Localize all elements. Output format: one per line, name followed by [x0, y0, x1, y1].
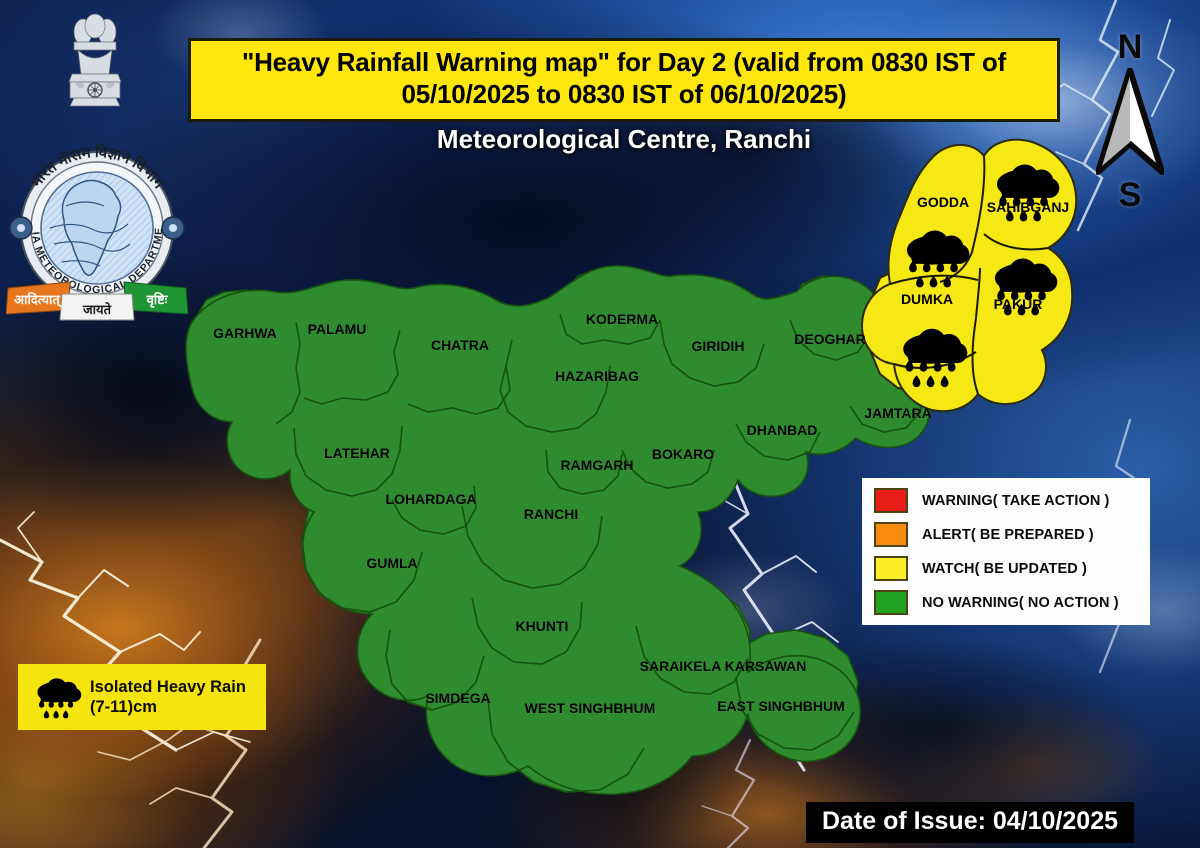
district-label-palamu: PALAMU [308, 321, 367, 337]
district-label-koderma: KODERMA [586, 311, 658, 327]
district-label-simdega: SIMDEGA [425, 690, 490, 706]
district-label-lohardaga: LOHARDAGA [386, 491, 477, 507]
district-label-bokaro: BOKARO [652, 446, 714, 462]
district-label-godda: GODDA [917, 194, 969, 210]
legend-color-swatch [874, 522, 908, 547]
rain-key-line-2: (7-11)cm [90, 697, 246, 717]
map-title-box: "Heavy Rainfall Warning map" for Day 2 (… [188, 38, 1060, 122]
district-label-giridih: GIRIDIH [692, 338, 745, 354]
district-label-sahibganj: SAHIBGANJ [987, 199, 1069, 215]
rain-cloud-icon-legend [28, 674, 82, 720]
district-label-hazaribag: HAZARIBAG [555, 368, 639, 384]
rain-key-line-1: Isolated Heavy Rain [90, 677, 246, 697]
district-label-dumka: DUMKA [901, 291, 953, 307]
district-label-east-singhbhum: EAST SINGHBHUM [717, 698, 845, 714]
legend-row: NO WARNING( NO ACTION ) [874, 590, 1138, 615]
compass-south-label: S [1082, 176, 1178, 215]
map-title-line-1: "Heavy Rainfall Warning map" for Day 2 (… [201, 47, 1047, 79]
weather-warning-map-page: GARHWAPALAMUCHATRAKODERMAGIRIDIHDEOGHARH… [0, 0, 1200, 848]
warning-level-legend: WARNING( TAKE ACTION )ALERT( BE PREPARED… [862, 478, 1150, 625]
north-arrow-icon [1096, 68, 1164, 176]
north-arrow-compass: N S [1082, 28, 1178, 228]
district-label-khunti: KHUNTI [516, 618, 569, 634]
rain-key-text: Isolated Heavy Rain (7-11)cm [90, 677, 246, 717]
district-label-ranchi: RANCHI [524, 506, 578, 522]
legend-label: WATCH( BE UPDATED ) [922, 561, 1087, 577]
district-label-pakur: PAKUR [994, 296, 1043, 312]
motto-left-text: आदित्यात् [14, 292, 63, 308]
legend-label: WARNING( TAKE ACTION ) [922, 493, 1109, 509]
legend-color-swatch [874, 590, 908, 615]
district-label-gumla: GUMLA [366, 555, 417, 571]
motto-center-text: जायते [82, 302, 112, 317]
district-label-garhwa: GARHWA [213, 325, 277, 341]
date-of-issue-banner: Date of Issue: 04/10/2025 [806, 802, 1134, 843]
legend-label: ALERT( BE PREPARED ) [922, 527, 1094, 543]
india-meteorological-department-logo: भारत मौसम विज्ञान विभाग INDIA METEOROLOG… [6, 132, 188, 322]
map-subtitle: Meteorological Centre, Ranchi [188, 124, 1060, 155]
district-label-jamtara: JAMTARA [864, 405, 931, 421]
legend-row: WARNING( TAKE ACTION ) [874, 488, 1138, 513]
motto-right-text: वृष्टिः [146, 292, 169, 308]
district-label-ramgarh: RAMGARH [560, 457, 633, 473]
district-label-saraikela-karsawan: SARAIKELA KARSAWAN [640, 658, 807, 674]
legend-row: ALERT( BE PREPARED ) [874, 522, 1138, 547]
legend-row: WATCH( BE UPDATED ) [874, 556, 1138, 581]
district-label-latehar: LATEHAR [324, 445, 390, 461]
district-label-dhanbad: DHANBAD [747, 422, 818, 438]
compass-north-label: N [1082, 28, 1178, 67]
map-title-line-2: 05/10/2025 to 0830 IST of 06/10/2025) [201, 79, 1047, 111]
legend-color-swatch [874, 556, 908, 581]
district-label-chatra: CHATRA [431, 337, 489, 353]
legend-label: NO WARNING( NO ACTION ) [922, 595, 1119, 611]
rainfall-intensity-key: Isolated Heavy Rain (7-11)cm [18, 664, 266, 730]
legend-color-swatch [874, 488, 908, 513]
district-label-west-singhbhum: WEST SINGHBHUM [525, 700, 656, 716]
state-emblem-of-india-icon [58, 12, 132, 120]
district-label-deoghar: DEOGHAR [794, 331, 866, 347]
